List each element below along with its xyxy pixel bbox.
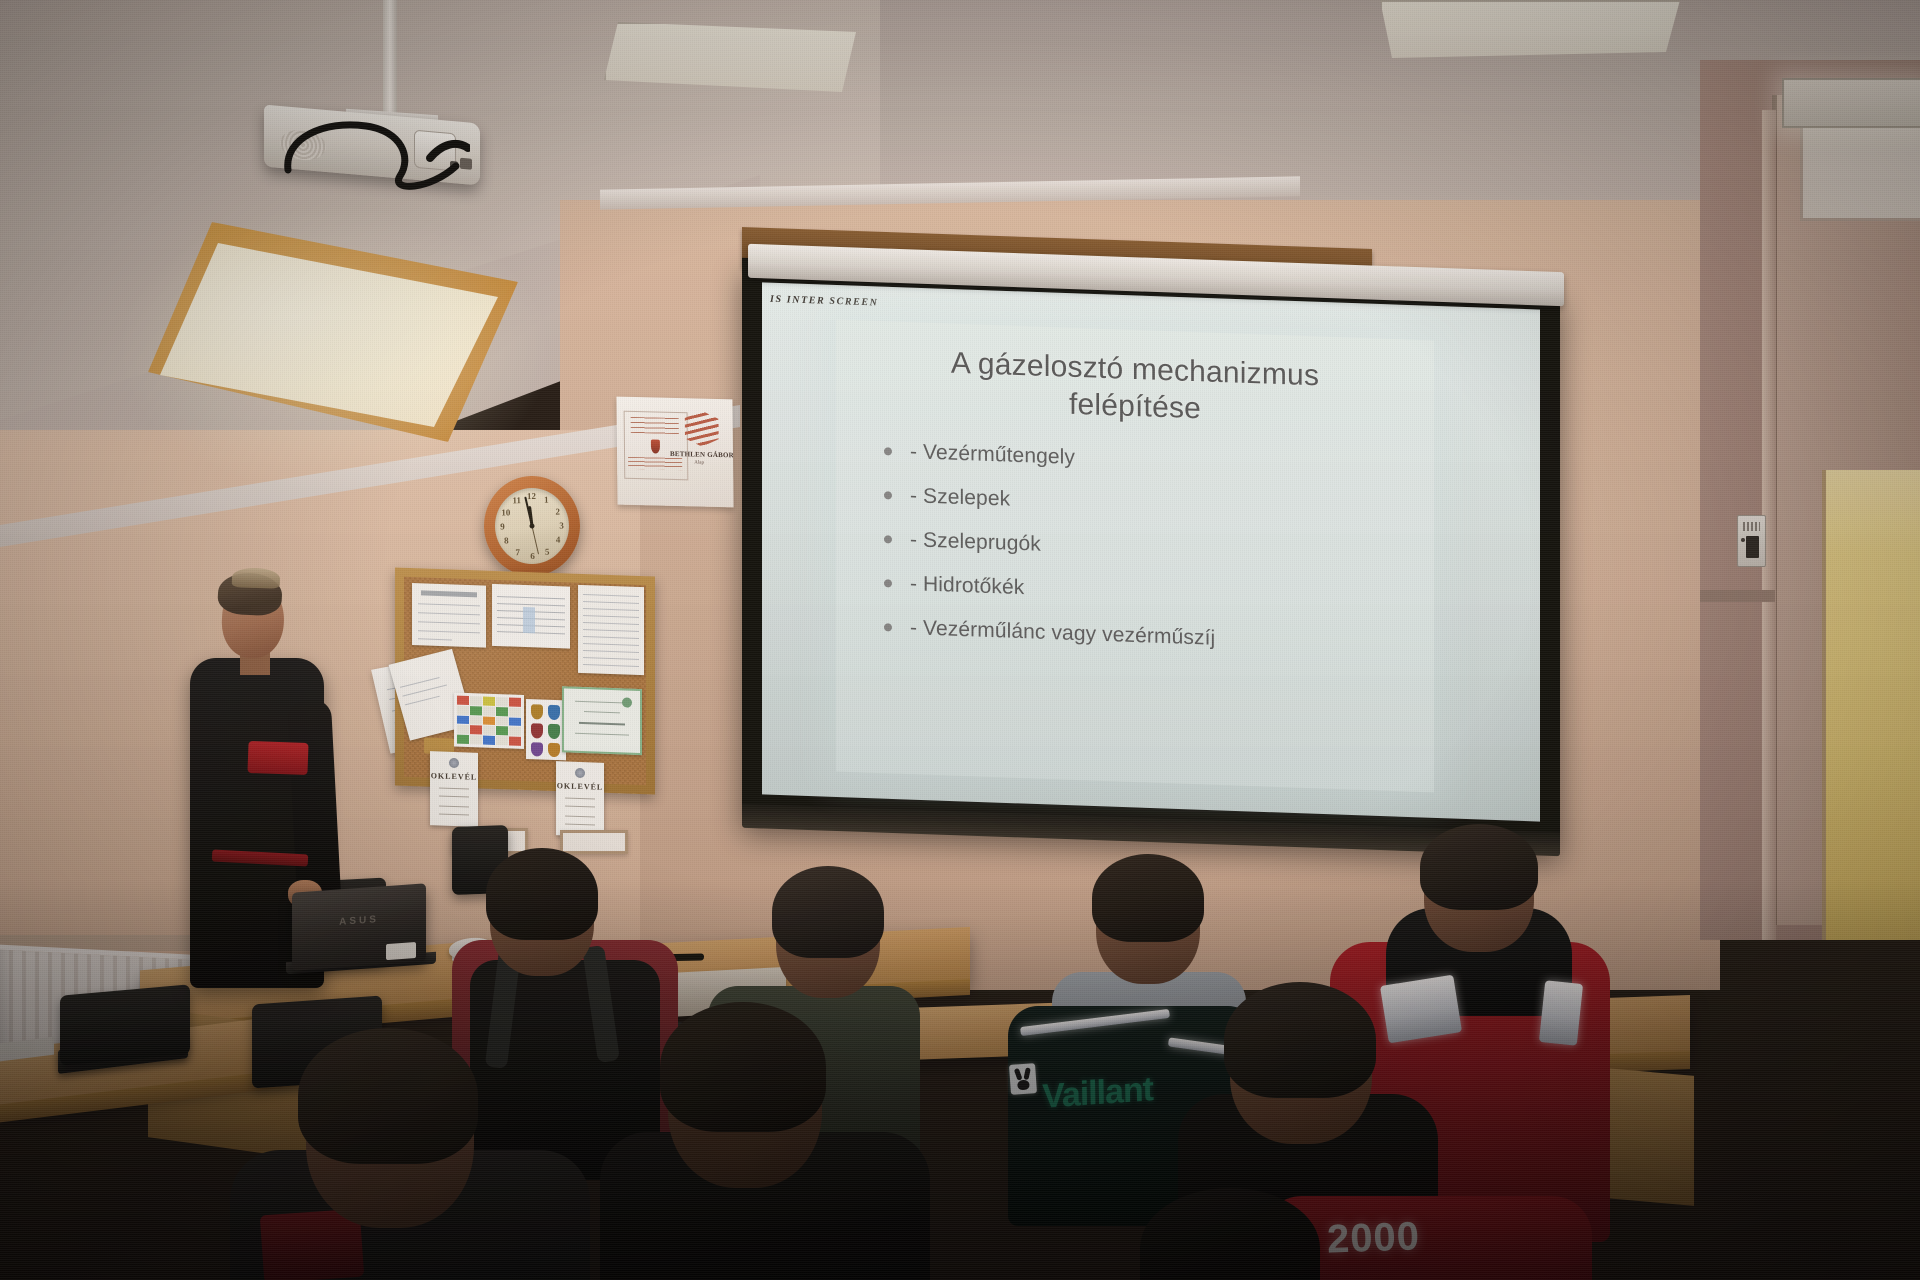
clock-numeral: 1	[544, 495, 549, 505]
clock-numeral: 6	[530, 551, 535, 561]
presenter-jacket-red-panel	[247, 741, 308, 775]
laptop-sticker	[386, 942, 416, 960]
laptop-brand-label: ASUS	[339, 914, 379, 928]
clock-numeral: 10	[501, 507, 510, 517]
student-hair-front-centre	[660, 1002, 826, 1132]
projector-mount-pole	[383, 0, 397, 120]
slide-bullet: - Szeleprugók	[876, 528, 1408, 568]
projector-port	[460, 158, 472, 170]
board-certificate	[562, 686, 642, 755]
clock-numeral: 3	[559, 520, 564, 530]
slide-bullet: - Hidrotőkék	[876, 572, 1408, 612]
student-hair-grey-hoodie	[1092, 854, 1204, 942]
projector-vent	[280, 128, 326, 162]
ceiling-light-panel	[1782, 78, 1920, 128]
open-doorway	[1822, 470, 1920, 940]
jacket-reflective-stripe	[1380, 975, 1462, 1044]
clock-numeral: 4	[556, 535, 561, 545]
clock-numeral: 7	[515, 547, 520, 557]
wall-rail	[1700, 590, 1775, 602]
student-hair-mid-right	[1224, 982, 1376, 1098]
bethlen-gabor-logo-icon	[685, 410, 719, 447]
board-crest-sheet	[526, 699, 566, 760]
board-table-sheet	[492, 584, 570, 649]
slide-bullet: - Vezérműlánc vagy vezérműszíj	[876, 616, 1408, 656]
chair-backrest[interactable]	[60, 984, 190, 1065]
wall-control-panel[interactable]	[1737, 515, 1766, 567]
vaillant-rabbit-logo-icon	[1009, 1063, 1037, 1095]
student-hair-front-left	[298, 1028, 478, 1164]
hungary-crest-icon	[651, 439, 660, 453]
student-hair-reflective-red	[1420, 824, 1538, 910]
slide-title: A gázelosztó mechanizmus felépítése	[862, 342, 1408, 434]
clock-hub	[529, 523, 534, 528]
oklevel-title: OKLEVÉL	[556, 781, 604, 792]
oklevel-certificate: OKLEVÉL	[556, 761, 604, 837]
oklevel-title: OKLEVÉL	[430, 771, 478, 782]
clock-numeral: 8	[504, 536, 509, 546]
projector-port	[450, 161, 458, 170]
board-note	[412, 583, 486, 648]
oklevel-certificate: OKLEVÉL	[430, 751, 478, 827]
wall-picture-frame	[560, 830, 628, 854]
clock-numeral: 2	[555, 506, 560, 516]
bethlen-gabor-poster: BETHLEN GÁBOR Alap	[616, 397, 733, 508]
poster-organisation: BETHLEN GÁBOR	[670, 450, 728, 459]
board-name-list	[578, 585, 644, 675]
slide-bullet-list: - Vezérműtengely - Szelepek - Szeleprugó…	[876, 440, 1408, 656]
clock-numeral: 11	[512, 495, 521, 505]
clock-numeral: 5	[545, 547, 550, 557]
jacket-reflective-stripe	[1539, 980, 1583, 1046]
classroom-photo: IS INTER SCREEN A gázelosztó mechanizmus…	[0, 0, 1920, 1280]
laptop[interactable]: ASUS	[292, 883, 426, 970]
student-hair-olive	[772, 866, 884, 958]
board-timetable-grid	[454, 693, 524, 749]
vaillant-wordmark: Vaillant	[1042, 1070, 1153, 1117]
clock-numeral: 9	[500, 521, 505, 531]
jacket-number-badge: 2000	[1326, 1214, 1420, 1262]
clock-face: 12 1 2 3 4 5 6 7 8 9 10 11	[494, 487, 569, 564]
clock-numeral: 12	[527, 491, 536, 501]
student-hair-red-shirt	[486, 848, 598, 940]
slide-bullet: - Szelepek	[876, 484, 1408, 524]
projected-slide: A gázelosztó mechanizmus felépítése - Ve…	[836, 320, 1434, 793]
slide-bullet: - Vezérműtengely	[876, 440, 1408, 480]
